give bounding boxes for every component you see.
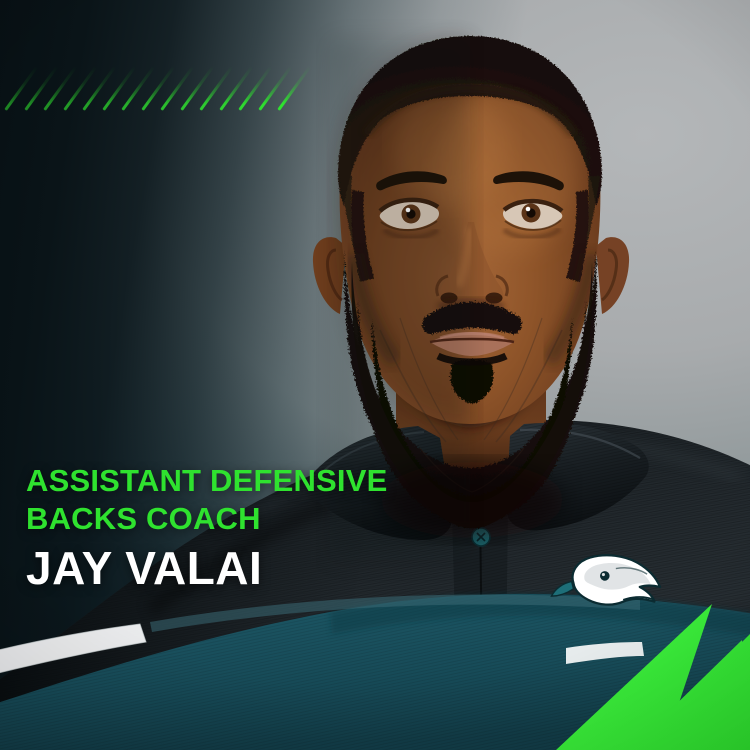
- eagles-coach-announcement-card: ASSISTANT DEFENSIVE BACKS COACH JAY VALA…: [0, 0, 750, 750]
- role-line-1: ASSISTANT DEFENSIVE: [26, 462, 388, 500]
- coach-name: JAY VALAI: [26, 543, 388, 593]
- background-vignette: [0, 0, 750, 750]
- title-block: ASSISTANT DEFENSIVE BACKS COACH JAY VALA…: [26, 462, 388, 593]
- role-line-2: BACKS COACH: [26, 500, 388, 538]
